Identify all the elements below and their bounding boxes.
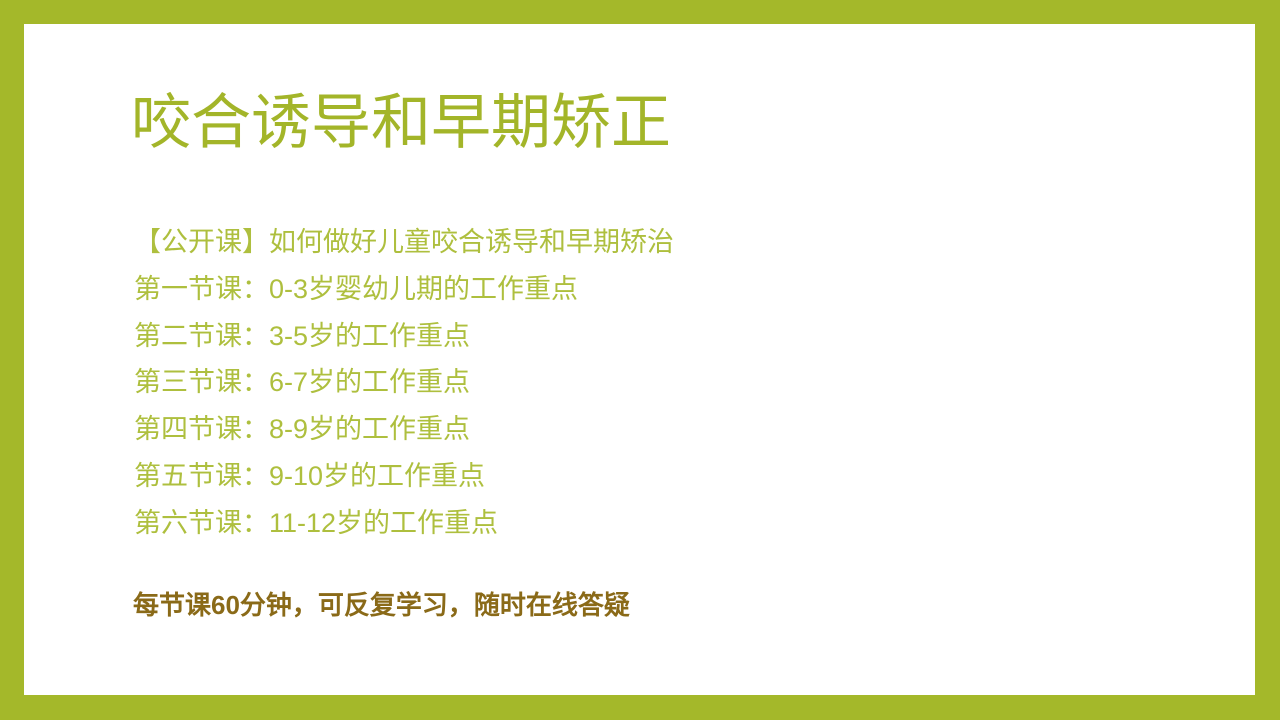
list-item: 第二节课：3-5岁的工作重点: [134, 313, 674, 360]
list-item: 第一节课：0-3岁婴幼儿期的工作重点: [134, 266, 674, 313]
list-item: 第三节课：6-7岁的工作重点: [134, 359, 674, 406]
list-item: 第五节课：9-10岁的工作重点: [134, 453, 674, 500]
list-item: 第六节课：11-12岁的工作重点: [134, 500, 674, 547]
course-outline-list: 【公开课】如何做好儿童咬合诱导和早期矫治 第一节课：0-3岁婴幼儿期的工作重点 …: [134, 219, 674, 547]
footer-note: 每节课60分钟，可反复学习，随时在线答疑: [133, 590, 630, 621]
slide-canvas: 咬合诱导和早期矫正 【公开课】如何做好儿童咬合诱导和早期矫治 第一节课：0-3岁…: [24, 24, 1255, 695]
course-subtitle-line: 【公开课】如何做好儿童咬合诱导和早期矫治: [134, 219, 674, 266]
page-title: 咬合诱导和早期矫正: [131, 93, 671, 153]
slide-frame: 咬合诱导和早期矫正 【公开课】如何做好儿童咬合诱导和早期矫治 第一节课：0-3岁…: [0, 0, 1280, 720]
list-item: 第四节课：8-9岁的工作重点: [134, 406, 674, 453]
